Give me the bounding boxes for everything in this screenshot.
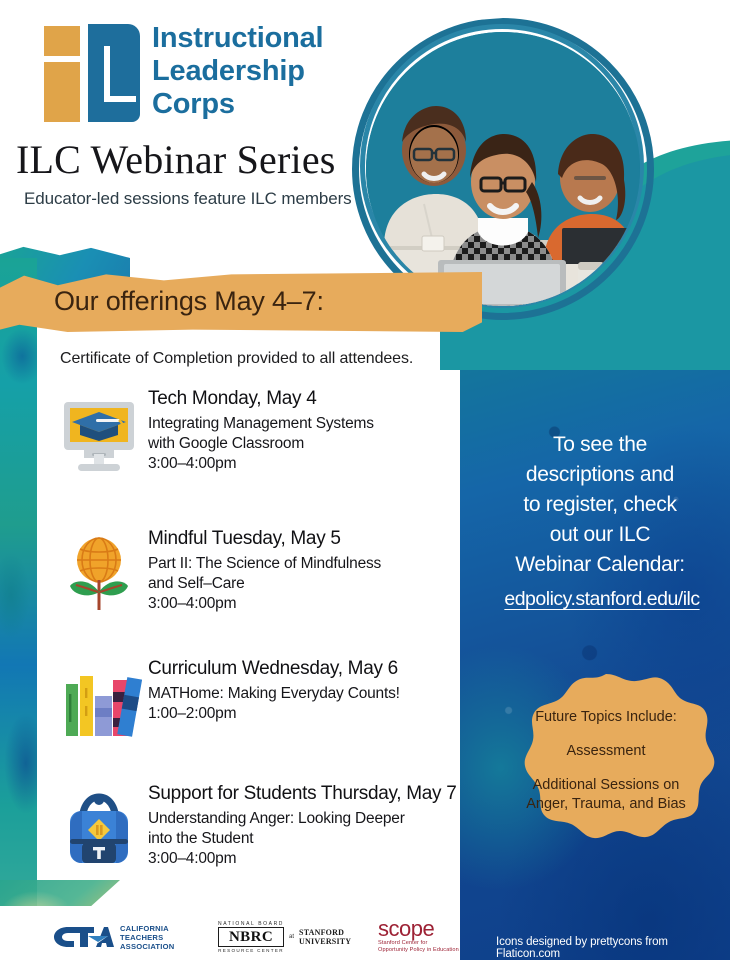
session-line-2: into the Student bbox=[148, 829, 478, 849]
computer-graduation-cap-icon bbox=[56, 392, 142, 476]
session-title: Tech Monday, May 4 bbox=[148, 388, 478, 410]
ilc-logo-text: Instructional Leadership Corps bbox=[152, 22, 323, 121]
session-line-1: Integrating Management Systems bbox=[148, 414, 478, 434]
logomark-l-block bbox=[88, 24, 140, 122]
logomark-i-dot bbox=[44, 26, 80, 56]
offerings-banner-text: Our offerings May 4–7: bbox=[54, 286, 324, 317]
future-topics-text: Future Topics Include: Assessment Additi… bbox=[510, 708, 702, 814]
session-line-1: MATHome: Making Everyday Counts! bbox=[148, 684, 478, 704]
nbrc-logo: NATIONAL BOARD NBRC RESOURCE CENTER at S… bbox=[218, 921, 351, 953]
logo-line-2: Leadership bbox=[152, 55, 323, 88]
scope-sub-line-1: Stanford Center for bbox=[378, 940, 459, 947]
future-topics-item-2: Additional Sessions on Anger, Trauma, an… bbox=[510, 776, 702, 814]
certificate-note: Certificate of Completion provided to al… bbox=[60, 350, 413, 368]
logo-line-1: Instructional bbox=[152, 22, 323, 55]
future-topics-heading: Future Topics Include: bbox=[510, 708, 702, 727]
cta-logo: CALIFORNIA TEACHERS ASSOCIATION bbox=[52, 921, 174, 953]
scope-logo: scope Stanford Center for Opportunity Po… bbox=[378, 918, 459, 954]
session-line-2: with Google Classroom bbox=[148, 434, 478, 454]
scope-sub-line-2: Opportunity Policy in Education bbox=[378, 947, 459, 954]
future-topics-item-1: Assessment bbox=[510, 742, 702, 761]
nbrc-bottom-text: RESOURCE CENTER bbox=[218, 948, 284, 953]
session-time: 3:00–4:00pm bbox=[148, 849, 478, 869]
stanford-line-1: STANFORD bbox=[299, 928, 351, 937]
future-topics-item-2-line-2: Anger, Trauma, and Bias bbox=[510, 795, 702, 814]
registration-line-3: to register, check bbox=[480, 490, 720, 520]
cta-wordmark: CALIFORNIA TEACHERS ASSOCIATION bbox=[120, 924, 174, 951]
cta-logomark-icon bbox=[52, 924, 114, 950]
logomark-i-stem bbox=[44, 62, 80, 122]
flyer-page: Instructional Leadership Corps ILC Webin… bbox=[0, 0, 730, 960]
future-topics-item-2-line-1: Additional Sessions on bbox=[510, 776, 702, 795]
left-watercolor-strip bbox=[0, 258, 37, 960]
nbrc-at-word: at bbox=[289, 934, 294, 940]
backpack-icon bbox=[56, 787, 142, 871]
cta-line-3: ASSOCIATION bbox=[120, 942, 174, 951]
ilc-logo: Instructional Leadership Corps bbox=[42, 24, 342, 124]
stanford-wordmark: STANFORD UNIVERSITY bbox=[299, 928, 351, 946]
registration-line-2: descriptions and bbox=[480, 460, 720, 490]
session-line-1: Part II: The Science of Mindfulness bbox=[148, 554, 478, 574]
logo-line-3: Corps bbox=[152, 88, 323, 121]
books-icon bbox=[56, 662, 142, 746]
cta-line-2: TEACHERS bbox=[120, 933, 174, 942]
session-body: Support for Students Thursday, May 7 Und… bbox=[148, 783, 478, 869]
session-body: Tech Monday, May 4 Integrating Managemen… bbox=[148, 388, 478, 474]
session-time: 3:00–4:00pm bbox=[148, 454, 478, 474]
session-title: Support for Students Thursday, May 7 bbox=[148, 783, 478, 805]
registration-line-5: Webinar Calendar: bbox=[480, 550, 720, 580]
page-title: ILC Webinar Series bbox=[16, 136, 336, 183]
nbrc-mark: NATIONAL BOARD NBRC RESOURCE CENTER bbox=[218, 921, 284, 953]
future-topics-badge: Future Topics Include: Assessment Additi… bbox=[492, 672, 720, 848]
webinar-calendar-link[interactable]: edpolicy.stanford.edu/ilc bbox=[478, 588, 726, 611]
session-time: 1:00–2:00pm bbox=[148, 704, 478, 724]
nbrc-acronym: NBRC bbox=[218, 927, 284, 947]
session-line-1: Understanding Anger: Looking Deeper bbox=[148, 809, 478, 829]
ilc-logomark-icon bbox=[42, 24, 140, 124]
logomark-l-vertical bbox=[104, 46, 110, 102]
logomark-l-horizontal bbox=[104, 96, 136, 102]
stanford-line-2: UNIVERSITY bbox=[299, 937, 351, 946]
session-title: Mindful Tuesday, May 5 bbox=[148, 528, 478, 550]
registration-line-1: To see the bbox=[480, 430, 720, 460]
scope-wordmark: scope bbox=[378, 918, 459, 940]
page-subtitle: Educator-led sessions feature ILC member… bbox=[24, 189, 352, 209]
session-title: Curriculum Wednesday, May 6 bbox=[148, 658, 478, 680]
cta-line-1: CALIFORNIA bbox=[120, 924, 174, 933]
icon-credit: Icons designed by prettycons from Flatic… bbox=[496, 936, 730, 960]
session-body: Curriculum Wednesday, May 6 MATHome: Mak… bbox=[148, 658, 478, 724]
registration-line-4: out our ILC bbox=[480, 520, 720, 550]
photo-image bbox=[366, 32, 640, 306]
globe-flower-icon bbox=[56, 532, 142, 616]
session-time: 3:00–4:00pm bbox=[148, 594, 478, 614]
registration-callout: To see the descriptions and to register,… bbox=[480, 430, 720, 580]
session-body: Mindful Tuesday, May 5 Part II: The Scie… bbox=[148, 528, 478, 614]
session-line-2: and Self–Care bbox=[148, 574, 478, 594]
nbrc-top-text: NATIONAL BOARD bbox=[218, 921, 284, 927]
